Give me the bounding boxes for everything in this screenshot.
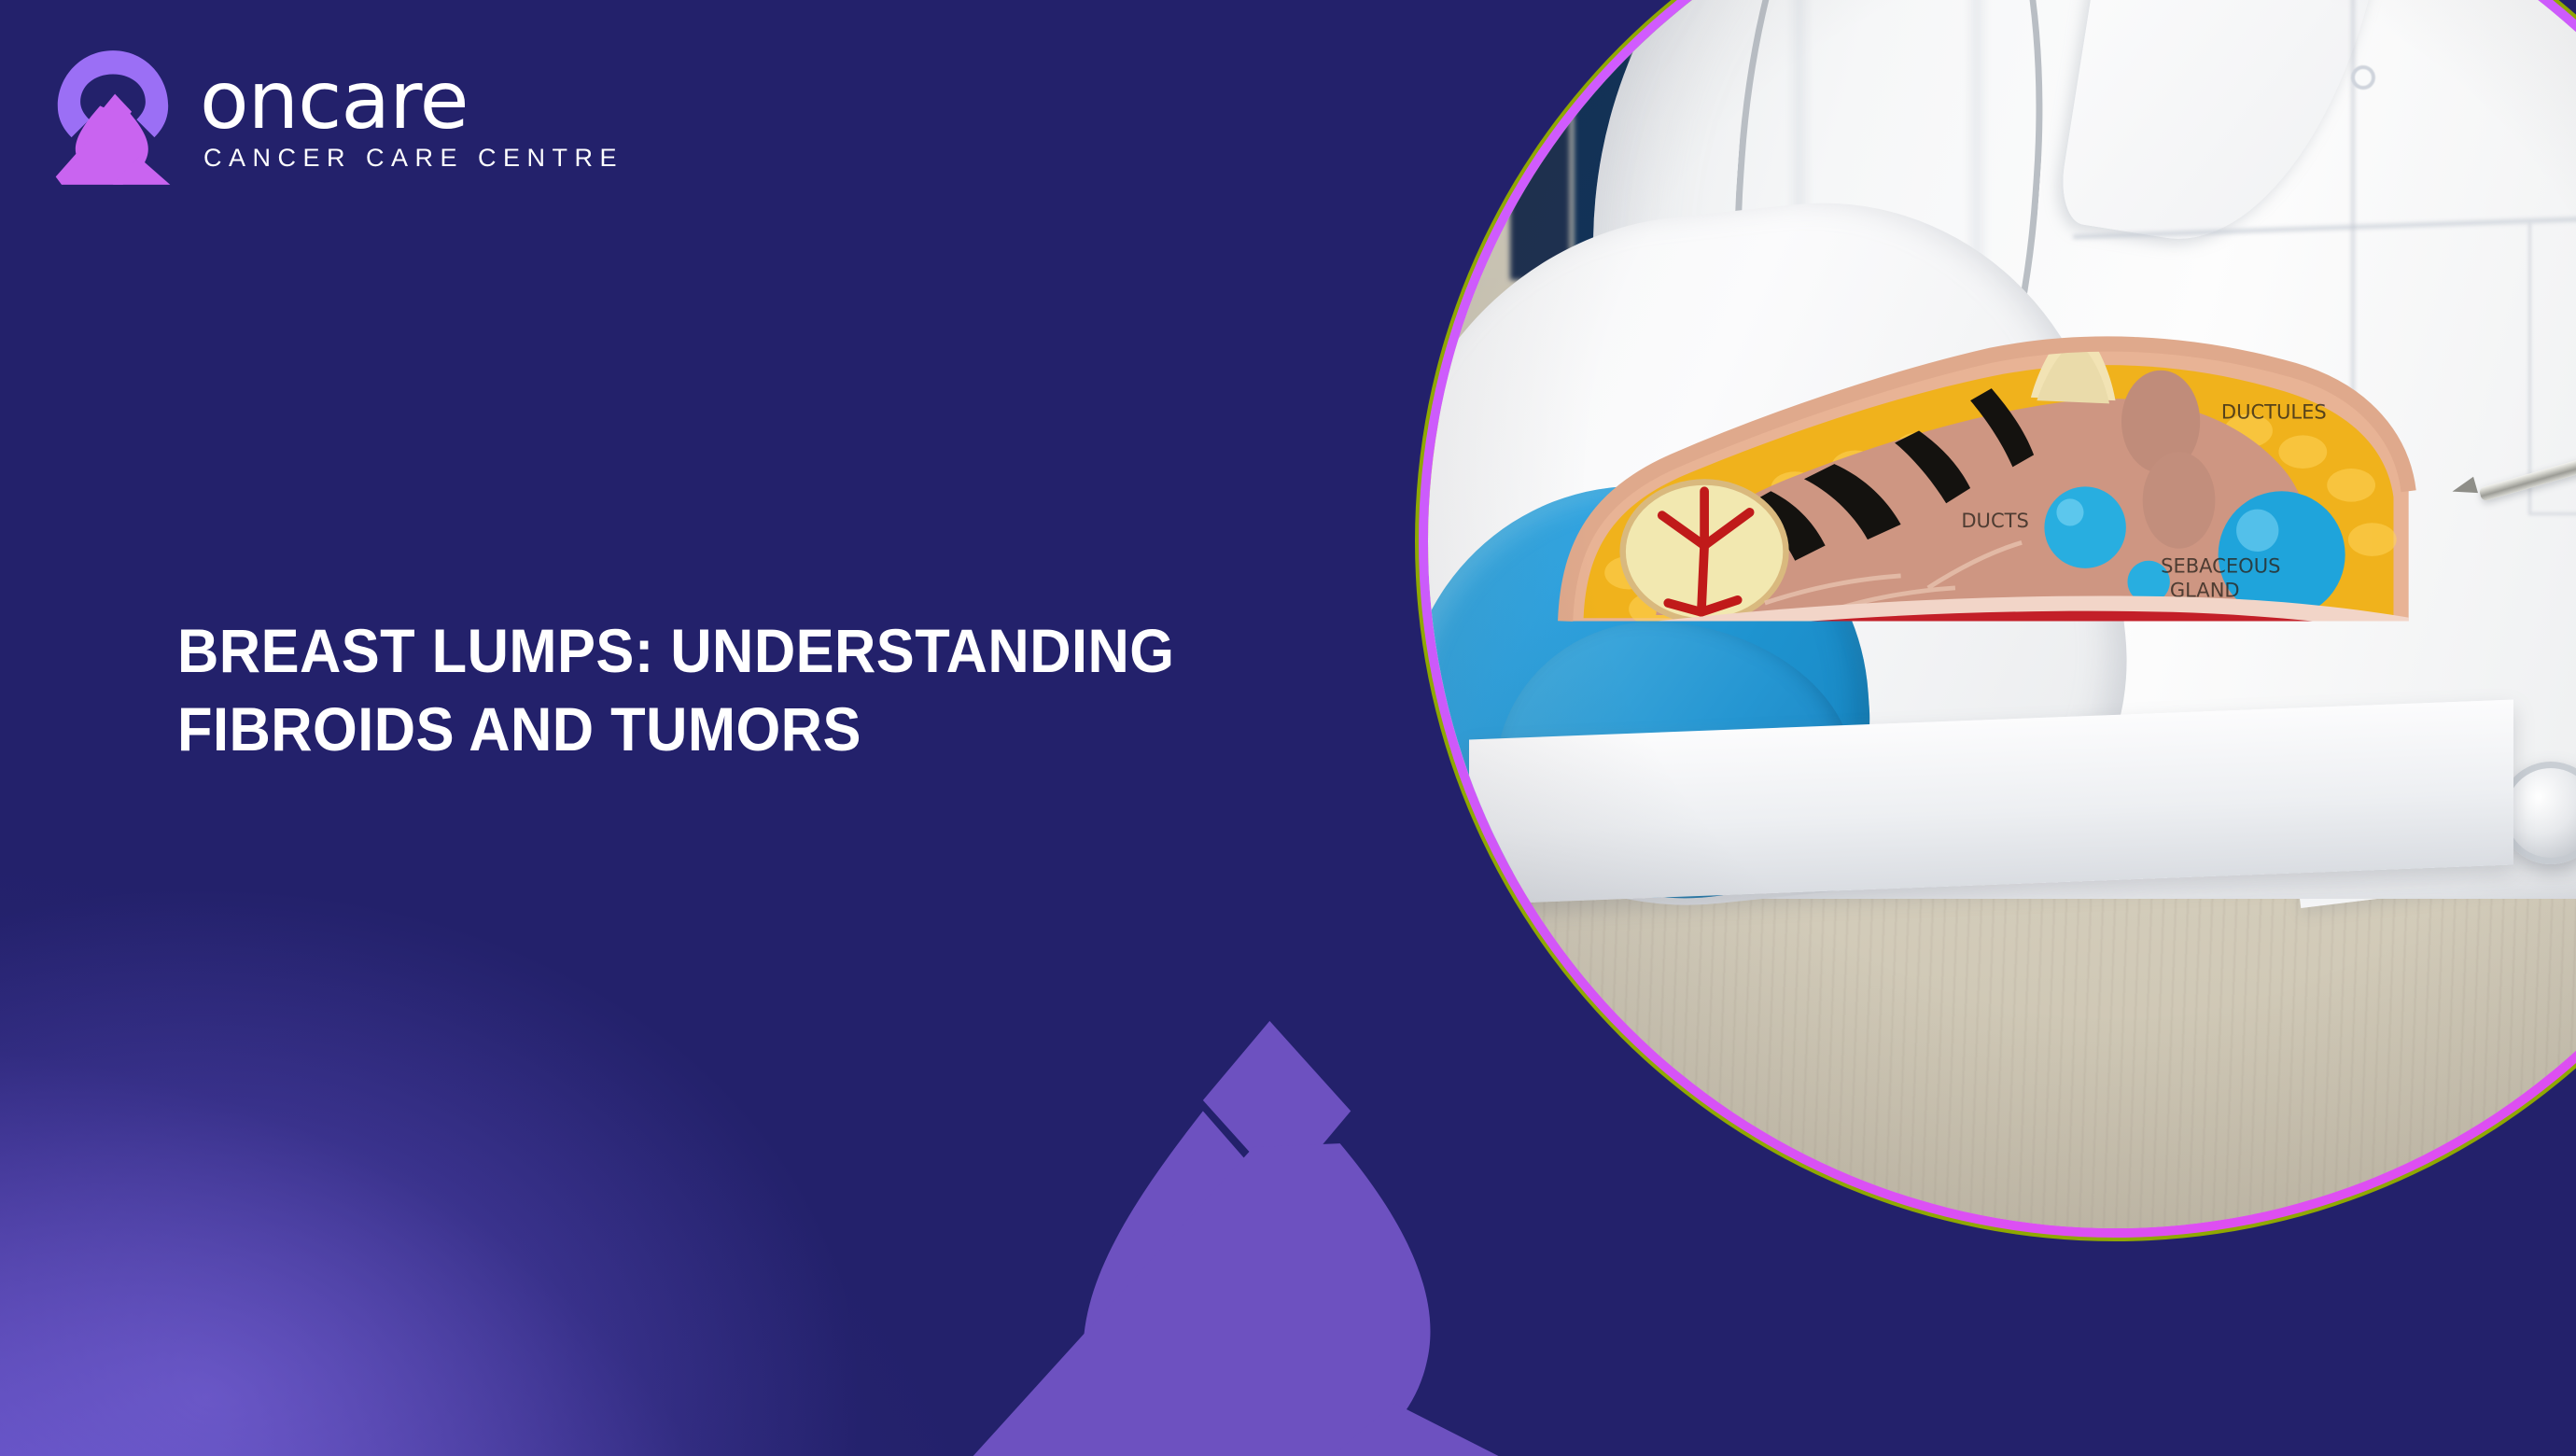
brand-logo[interactable]: oncare CANCER CARE CENTRE <box>52 49 623 187</box>
svg-text:DUCTS: DUCTS <box>1961 509 2028 532</box>
svg-text:DUCTULES: DUCTULES <box>2221 400 2327 424</box>
circular-photo-ring: LOBULES DUCTS MILK DUCT GLAND SEBACEOUS … <box>1415 0 2576 1241</box>
ribbon-logo-icon <box>52 49 174 187</box>
svg-text:SEBACEOUS: SEBACEOUS <box>2161 554 2280 578</box>
page-title: BREAST LUMPS: UNDERSTANDING FIBROIDS AND… <box>177 611 1335 769</box>
brand-tagline: CANCER CARE CENTRE <box>200 144 623 173</box>
brand-name: oncare <box>200 68 623 134</box>
headline-line-1: BREAST LUMPS: UNDERSTANDING <box>177 611 1253 690</box>
photo-coat-button <box>2351 65 2375 90</box>
photo-breast-anatomy-model: LOBULES DUCTS MILK DUCT GLAND SEBACEOUS … <box>1538 239 2445 816</box>
photo-clip: LOBULES DUCTS MILK DUCT GLAND SEBACEOUS … <box>1428 0 2576 1228</box>
banner-root: oncare CANCER CARE CENTRE BREAST LUMPS: … <box>0 0 2576 1456</box>
headline-line-2: FIBROIDS AND TUMORS <box>177 690 1253 768</box>
svg-text:CYST: CYST <box>2278 651 2329 674</box>
brand-logo-text: oncare CANCER CARE CENTRE <box>200 63 623 173</box>
svg-text:GLAND: GLAND <box>2076 633 2146 656</box>
photo-scene: LOBULES DUCTS MILK DUCT GLAND SEBACEOUS … <box>1428 0 2576 1228</box>
